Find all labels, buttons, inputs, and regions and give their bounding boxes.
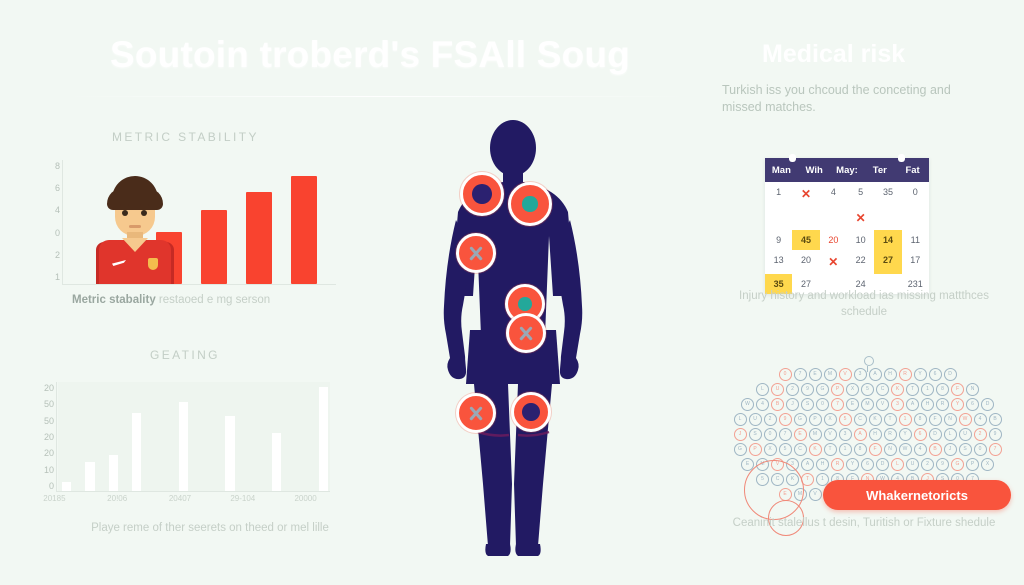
chart2-bar [85,462,94,491]
body-injury-map [398,120,628,565]
chart2-bar [109,455,118,491]
calendar-day-cell[interactable] [765,206,792,230]
seat-icon[interactable]: 9 [936,458,949,471]
seat-icon[interactable]: 6 [914,428,927,441]
calendar-day-cell[interactable] [874,206,901,230]
calendar-day-cell[interactable]: 13 [765,250,792,274]
seat-icon[interactable]: K [891,383,904,396]
chart1-bar [291,176,317,284]
stadium-seat-map[interactable]: 07EMV3AHRY6DLU29GPX5CKT18FNW4BJS07EMV3AH… [730,368,1005,518]
seat-icon[interactable]: 0 [816,398,829,411]
chart2-bar [62,482,71,491]
calendar-weekday: Ter [863,165,896,176]
chart2-ytick: 20 [44,383,54,393]
cross-icon [465,402,486,423]
marker-knee-right[interactable] [511,392,551,432]
calendar-missed-match-icon[interactable]: ✕ [847,206,874,230]
chart2-x-axis-labels: 2018520!062040729-10420000 [30,494,330,503]
section-label-metric-stability: METRIC STABILITY [112,130,259,144]
marker-abdomen-left[interactable] [456,233,496,273]
seat-icon[interactable]: A [854,428,867,441]
seat-icon[interactable]: 4 [914,443,927,456]
avatar-fringe [107,188,163,210]
caption1-rest: restaoed e mg serson [156,294,270,306]
seat-icon[interactable]: 9 [989,428,1002,441]
seat-icon[interactable]: K [869,413,882,426]
chart1-bar [201,210,227,284]
seat-icon[interactable]: H [816,458,829,471]
marker-shoulder-left[interactable] [460,172,504,216]
chart2-xtick: 29-104 [218,494,267,503]
seat-icon[interactable]: L [756,383,769,396]
seat-icon[interactable]: X [846,383,859,396]
seat-icon[interactable]: J [786,398,799,411]
ring-icon [472,184,492,204]
seat-icon[interactable]: B [929,443,942,456]
seat-row: W4BJS07EMV3AHRY6D [730,398,1005,411]
calendar-day-cell[interactable]: 45 [792,230,819,250]
seat-icon[interactable]: 8 [914,413,927,426]
section-label-geating: GEATING [150,348,220,362]
chart1-baseline [62,284,336,285]
medical-risk-subtitle: Turkish iss you chcoud the conceting and… [722,82,990,116]
seat-icon[interactable]: F [929,413,942,426]
calendar-day-cell[interactable]: 17 [902,250,929,274]
pin-circle [864,356,874,366]
calendar-day-cell[interactable]: 0 [902,182,929,206]
seat-icon[interactable]: N [966,383,979,396]
caption1-bold: Metric stabality [72,294,156,306]
seat-icon[interactable]: 2 [786,383,799,396]
seat-icon[interactable]: 4 [974,413,987,426]
calendar-tab-right-icon [898,154,905,162]
seat-icon[interactable]: A [906,398,919,411]
seat-icon[interactable]: R [831,458,844,471]
chart2-axis-line [56,382,57,492]
seat-icon[interactable]: H [884,368,897,381]
seat-icon[interactable]: L [891,458,904,471]
seat-icon[interactable]: A [801,458,814,471]
seat-icon[interactable]: 0 [779,368,792,381]
seat-row: GPX5CKT18FNW4BJS07 [730,443,1005,456]
fixture-schedule-caption: Ceaninit stalellus t desin, Turitish or … [724,515,1004,531]
chart2-bar [319,387,328,491]
dot-icon [518,297,532,311]
seat-icon[interactable]: U [959,428,972,441]
seat-row: LU29GPX5CKT18FN [730,383,1005,396]
seat-icon[interactable]: V [809,488,822,501]
seat-icon[interactable]: L [734,413,747,426]
seat-icon[interactable]: J [944,443,957,456]
chart2-bars [62,382,328,491]
geating-chart: 2050502020100 [30,382,330,492]
seat-icon[interactable]: G [794,413,807,426]
seat-icon[interactable]: 1 [899,413,912,426]
seat-icon[interactable]: D [981,398,994,411]
seat-icon[interactable]: 0 [764,428,777,441]
calendar-day-cell[interactable] [792,206,819,230]
seat-icon[interactable]: M [824,368,837,381]
avatar-brow-left [120,204,129,206]
seat-icon[interactable]: N [884,443,897,456]
infographic-canvas: Soutoin troberd's FSAll Soug Medical ris… [0,0,1024,585]
seat-icon[interactable]: U [906,458,919,471]
seat-icon[interactable]: L [944,428,957,441]
seat-icon[interactable]: S [959,443,972,456]
chart2-bar [225,416,234,491]
seat-icon[interactable]: J [734,428,747,441]
seat-icon[interactable]: D [944,368,957,381]
seat-icon[interactable]: 6 [929,368,942,381]
seat-row: JS07EMV3AHRY6DLU29 [730,428,1005,441]
seat-icon[interactable]: W [959,413,972,426]
calendar-missed-match-icon[interactable]: ✕ [792,182,819,206]
avatar-jersey-badge-icon [148,258,158,270]
chart2-ytick: 20 [44,448,54,458]
seat-icon[interactable]: M [861,398,874,411]
seat-icon[interactable]: X [981,458,994,471]
calendar-day-cell[interactable]: 11 [902,230,929,250]
geating-caption: Playe reme of ther seerets on theed or m… [70,520,350,536]
seat-icon[interactable]: R [899,368,912,381]
chart1-ytick: 0 [55,228,60,238]
injury-history-caption: Injury history and workload ias missing … [724,288,1004,320]
chart1-ytick: 6 [55,183,60,193]
seat-icon[interactable]: P [831,383,844,396]
calendar-day-cell[interactable]: 9 [765,230,792,250]
seat-icon[interactable]: U [771,383,784,396]
avatar-eye-left [122,210,128,216]
seat-icon[interactable]: 0 [974,443,987,456]
seat-icon[interactable]: W [741,398,754,411]
seat-icon[interactable]: K [809,443,822,456]
calendar-weekday: May: [831,165,864,176]
seat-icon[interactable]: S [749,428,762,441]
seat-icon[interactable]: C [854,413,867,426]
seat-icon[interactable]: 8 [854,443,867,456]
chart1-ytick: 8 [55,161,60,171]
chart1-y-axis: 864021 [36,160,62,285]
cross-icon [465,242,486,263]
seat-icon[interactable]: Y [846,458,859,471]
seat-icon[interactable]: 9 [779,413,792,426]
chart2-ytick: 0 [49,481,54,491]
seat-icon[interactable]: X [824,413,837,426]
calendar-day-cell[interactable]: 22 [847,250,874,274]
seat-icon[interactable]: 3 [891,398,904,411]
seat-icon[interactable]: W [899,443,912,456]
seat-icon[interactable]: 2 [974,428,987,441]
calendar-weekday: Fat [896,165,929,176]
calendar-weekday: Wih [798,165,831,176]
fixture-calendar[interactable]: ManWihMay:TerFat 1✕45350✕945201014111320… [765,158,929,294]
calendar-body[interactable]: 1✕45350✕945201014111320✕222717352724231 [765,182,929,294]
seat-icon[interactable]: H [869,428,882,441]
seat-icon[interactable]: P [749,443,762,456]
seat-icon[interactable]: B [771,398,784,411]
seat-icon[interactable]: Y [899,428,912,441]
chart2-xtick: 20000 [281,494,330,503]
seat-icon[interactable]: 1 [839,443,852,456]
seat-icon[interactable]: M [809,428,822,441]
metric-stability-caption: Metric stabality restaoed e mg serson [72,292,352,308]
chart2-bar [272,433,281,491]
player-avatar [96,176,174,284]
seat-icon[interactable]: D [876,458,889,471]
chart2-ytick: 50 [44,399,54,409]
seat-icon[interactable]: V [876,398,889,411]
title-divider [62,96,692,97]
seat-icon[interactable]: E [794,428,807,441]
seat-icon[interactable]: S [801,398,814,411]
seat-icon[interactable]: R [936,398,949,411]
calendar-week-row: 1320✕222717 [765,250,929,274]
calendar-day-cell[interactable] [820,206,847,230]
seat-icon[interactable]: T [906,383,919,396]
calendar-weekday: Man [765,165,798,176]
seat-icon[interactable]: 7 [831,398,844,411]
chart2-xtick: 20185 [30,494,79,503]
seat-icon[interactable]: P [966,458,979,471]
chart2-xtick: 20407 [156,494,205,503]
avatar-eye-right [141,210,147,216]
location-pin-icon [864,356,872,368]
chart1-ytick: 2 [55,250,60,260]
seat-icon[interactable]: B [989,413,1002,426]
medical-risk-title: Medical risk [762,40,1012,69]
seat-icon[interactable]: Y [914,368,927,381]
seat-icon[interactable]: 6 [861,458,874,471]
chart2-ytick: 10 [44,465,54,475]
seat-icon[interactable]: 7 [989,443,1002,456]
seat-icon[interactable]: 6 [966,398,979,411]
seat-icon[interactable]: 4 [756,398,769,411]
seat-icon[interactable]: 2 [921,458,934,471]
seat-icon[interactable]: C [876,383,889,396]
chart2-baseline [56,491,330,492]
calendar-week-row: 94520101411 [765,230,929,250]
avatar-mouth [129,225,141,228]
chart1-ytick: 1 [55,272,60,282]
cta-button[interactable]: Whakernetoricts [823,480,1011,510]
calendar-week-row: ✕ [765,206,929,230]
seat-icon[interactable]: V [839,368,852,381]
chart2-bar [179,402,188,491]
seat-icon[interactable]: 3 [839,428,852,441]
calendar-day-cell[interactable]: 1 [765,182,792,206]
calendar-tab-left-icon [789,154,796,162]
calendar-day-cell[interactable]: 35 [874,182,901,206]
calendar-day-cell[interactable]: 5 [847,182,874,206]
seat-icon[interactable]: H [921,398,934,411]
seat-icon[interactable]: 7 [794,368,807,381]
dot-icon [522,196,537,211]
seat-icon[interactable]: Y [951,398,964,411]
seat-icon[interactable]: 5 [861,383,874,396]
seat-icon[interactable]: P [809,413,822,426]
page-title: Soutoin troberd's FSAll Soug [110,34,710,76]
calendar-day-cell[interactable]: 14 [874,230,901,250]
chart2-bar [132,413,141,491]
seat-icon[interactable]: 9 [801,383,814,396]
calendar-day-cell[interactable]: 4 [820,182,847,206]
calendar-day-cell[interactable] [902,206,929,230]
chart2-y-axis: 2050502020100 [30,382,56,492]
seat-icon[interactable]: F [951,383,964,396]
seat-icon[interactable]: D [929,428,942,441]
calendar-week-row: 1✕45350 [765,182,929,206]
seat-icon[interactable]: A [869,368,882,381]
marker-chest-right[interactable] [508,182,552,226]
seat-icon[interactable]: 5 [779,443,792,456]
seat-icon[interactable]: E [846,398,859,411]
calendar-day-cell[interactable]: 20 [792,250,819,274]
seat-icon[interactable]: T [824,443,837,456]
seat-icon[interactable]: G [734,443,747,456]
ring-icon [522,403,540,421]
cross-icon [515,322,536,343]
seat-icon[interactable]: 7 [779,428,792,441]
seat-icon[interactable]: F [869,443,882,456]
seat-icon[interactable]: T [884,413,897,426]
chart2-xtick: 20!06 [93,494,142,503]
seat-icon[interactable]: G [816,383,829,396]
marker-thigh-right[interactable] [506,313,546,353]
chart1-ytick: 4 [55,205,60,215]
calendar-day-cell[interactable]: 10 [847,230,874,250]
marker-knee-left[interactable] [456,393,496,433]
metric-stability-chart: 864021 [36,160,336,285]
seat-icon[interactable]: 2 [764,413,777,426]
seat-icon[interactable]: 3 [854,368,867,381]
calendar-day-cell[interactable]: 27 [874,250,901,274]
chart2-ytick: 20 [44,432,54,442]
calendar-day-cell[interactable]: 20 [820,230,847,250]
chart1-axis-line [62,160,63,285]
seat-icon[interactable]: G [951,458,964,471]
calendar-missed-match-icon[interactable]: ✕ [820,250,847,274]
pin-tail [867,366,868,372]
seat-icon[interactable]: 8 [936,383,949,396]
seat-icon[interactable]: C [794,443,807,456]
seat-row: LU29GPX5CKT18FNW4B [730,413,1005,426]
seat-icon[interactable]: V [824,428,837,441]
seat-icon[interactable]: X [764,443,777,456]
seat-icon[interactable]: 1 [921,383,934,396]
seat-icon[interactable]: R [884,428,897,441]
seat-icon[interactable]: N [944,413,957,426]
chart2-ytick: 50 [44,416,54,426]
seat-icon[interactable]: U [749,413,762,426]
avatar-brow-right [140,204,149,206]
seat-icon[interactable]: E [809,368,822,381]
seat-icon[interactable]: 5 [839,413,852,426]
chart1-bar [246,192,272,284]
